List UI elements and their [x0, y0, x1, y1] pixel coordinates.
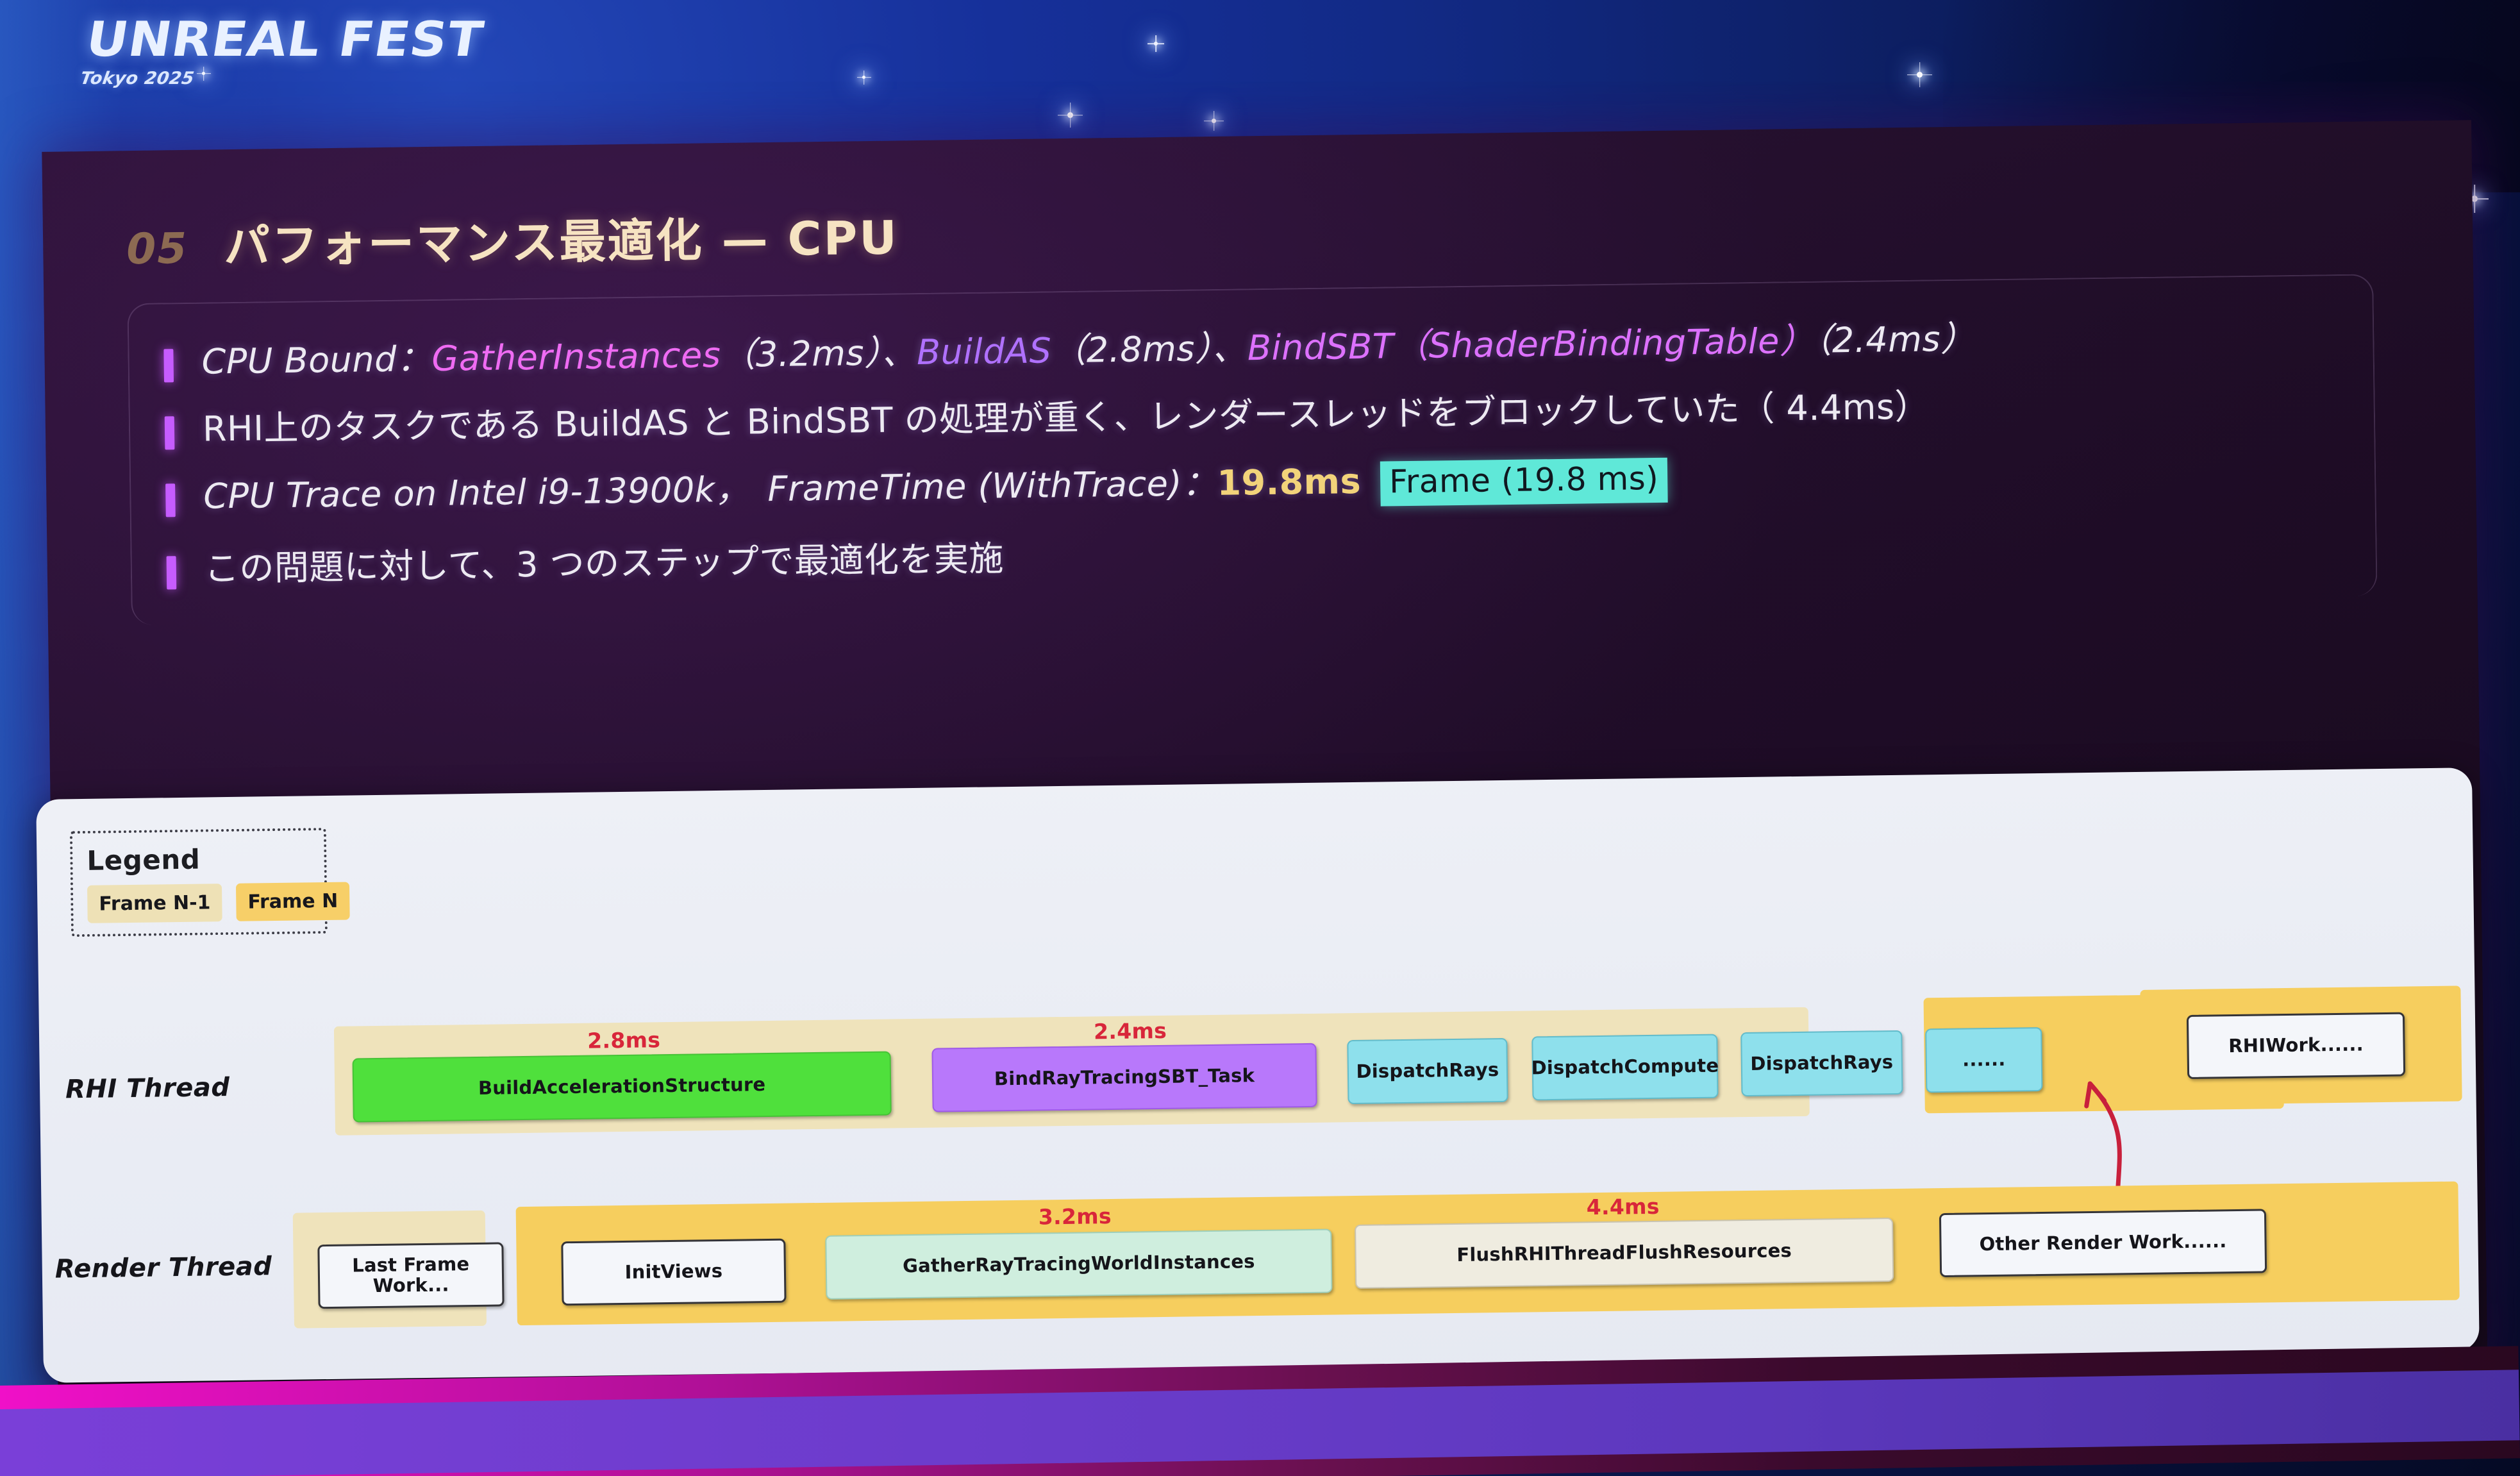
status-badge: Frame (19.8 ms)	[1380, 458, 1668, 506]
row-label-render-thread: Render Thread	[54, 1252, 272, 1284]
bullet-segment: CPU Bound：	[201, 339, 432, 382]
star-sparkle-icon	[1154, 42, 1158, 46]
bullet-marker-icon	[165, 483, 176, 517]
task-label: Other Render Work......	[1979, 1231, 2226, 1255]
legend-item-frame-prev: Frame N-1	[87, 884, 222, 923]
ms-label-bind-ray-tracing-sbt: 2.4ms	[1094, 1018, 1167, 1044]
star-sparkle-icon	[862, 76, 865, 79]
bullet-segment: （ShaderBindingTable）	[1394, 321, 1815, 367]
frame-time-value: 19.8ms	[1217, 461, 1361, 503]
task-dispatch-more[interactable]: ......	[1925, 1027, 2042, 1093]
task-label: BuildAccelerationStructure	[478, 1075, 766, 1099]
star-sparkle-icon	[1067, 112, 1073, 118]
task-label: DispatchRays	[1356, 1060, 1499, 1082]
bullet-segment: （3.2ms）、	[721, 332, 917, 375]
bullet-segment: GatherInstances	[431, 335, 721, 379]
section-number: 05	[126, 224, 188, 274]
list-item: CPU Trace on Intel i9-13900k， FrameTime …	[165, 448, 2397, 522]
timeline-panel: Legend Frame N-1 Frame N RHI Thread Buil…	[36, 767, 2480, 1383]
legend-items: Frame N-1 Frame N	[87, 882, 311, 923]
task-init-views[interactable]: InitViews	[561, 1239, 786, 1306]
presentation-photo: UNREAL FEST Tokyo 2025 05 パフォーマンス最適化 — C…	[0, 0, 2520, 1476]
logo-subtitle: Tokyo 2025	[79, 69, 456, 88]
task-dispatch-rays-1[interactable]: DispatchRays	[1347, 1038, 1508, 1104]
task-label: DispatchCompute	[1531, 1056, 1719, 1079]
legend-title: Legend	[87, 842, 310, 876]
task-gather-ray-tracing-world-instances[interactable]: GatherRayTracingWorldInstances	[825, 1229, 1332, 1300]
ms-label-gather-ray-tracing: 3.2ms	[1039, 1203, 1112, 1229]
star-sparkle-icon	[1212, 119, 1216, 123]
task-label: ......	[1962, 1050, 2006, 1071]
slide-heading: 05 パフォーマンス最適化 — CPU	[126, 199, 899, 277]
ms-label-flush-rhi-thread: 4.4ms	[1586, 1194, 1660, 1220]
list-item: RHI上のタスクである BuildAS と BindSBT の処理が重く、レンダ…	[165, 381, 2396, 450]
row-label-rhi-thread: RHI Thread	[65, 1073, 230, 1104]
bullet-segment: （2.8ms）、	[1051, 328, 1247, 371]
task-rhi-work[interactable]: RHIWork......	[2187, 1012, 2405, 1079]
legend: Legend Frame N-1 Frame N	[70, 828, 328, 937]
bullet-text: RHI上のタスクである BuildAS と BindSBT の処理が重く、レンダ…	[203, 387, 1930, 449]
star-sparkle-icon	[1917, 72, 1923, 78]
task-label: GatherRayTracingWorldInstances	[903, 1252, 1255, 1277]
bullet-marker-icon	[167, 556, 177, 589]
task-label: BindRayTracingSBT_Task	[994, 1066, 1255, 1089]
unreal-fest-logo: UNREAL FEST Tokyo 2025	[79, 17, 464, 88]
task-label: Last Frame Work...	[324, 1254, 499, 1297]
bullet-marker-icon	[163, 349, 174, 382]
bullet-segment: CPU Trace on Intel i9-13900k， FrameTime …	[203, 463, 1217, 517]
page-title: パフォーマンス最適化 — CPU	[223, 199, 899, 276]
list-item: この問題に対して、3 つのステップで最適化を実施	[166, 521, 2398, 590]
bullet-segment: （2.4ms）	[1814, 318, 1976, 360]
task-flush-rhi-thread-flush-resources[interactable]: FlushRHIThreadFlushResources	[1355, 1218, 1894, 1289]
task-dispatch-compute[interactable]: DispatchCompute	[1531, 1034, 1718, 1101]
bullet-segment: BindSBT	[1247, 326, 1394, 368]
task-dispatch-rays-2[interactable]: DispatchRays	[1740, 1030, 1903, 1096]
task-last-frame-work[interactable]: Last Frame Work...	[317, 1242, 504, 1309]
bullet-list: CPU Bound：GatherInstances（3.2ms）、BuildAS…	[163, 314, 2398, 617]
task-label: FlushRHIThreadFlushResources	[1456, 1241, 1792, 1266]
task-other-render-work[interactable]: Other Render Work......	[1939, 1209, 2267, 1277]
bullet-text: CPU Trace on Intel i9-13900k， FrameTime …	[203, 458, 1668, 521]
task-label: RHIWork......	[2228, 1034, 2364, 1057]
bullet-marker-icon	[165, 416, 175, 449]
task-bind-ray-tracing-sbt[interactable]: BindRayTracingSBT_Task	[931, 1043, 1317, 1112]
task-label: DispatchRays	[1750, 1052, 1893, 1075]
bullet-segment: BuildAS	[917, 330, 1052, 373]
ms-label-build-acceleration-structure: 2.8ms	[587, 1027, 661, 1053]
task-build-acceleration-structure[interactable]: BuildAccelerationStructure	[353, 1051, 892, 1122]
logo-title: UNREAL FEST	[83, 17, 487, 62]
bullet-text: この問題に対して、3 つのステップで最適化を実施	[204, 539, 1004, 589]
legend-item-frame-current: Frame N	[236, 882, 350, 921]
task-label: InitViews	[624, 1261, 722, 1283]
